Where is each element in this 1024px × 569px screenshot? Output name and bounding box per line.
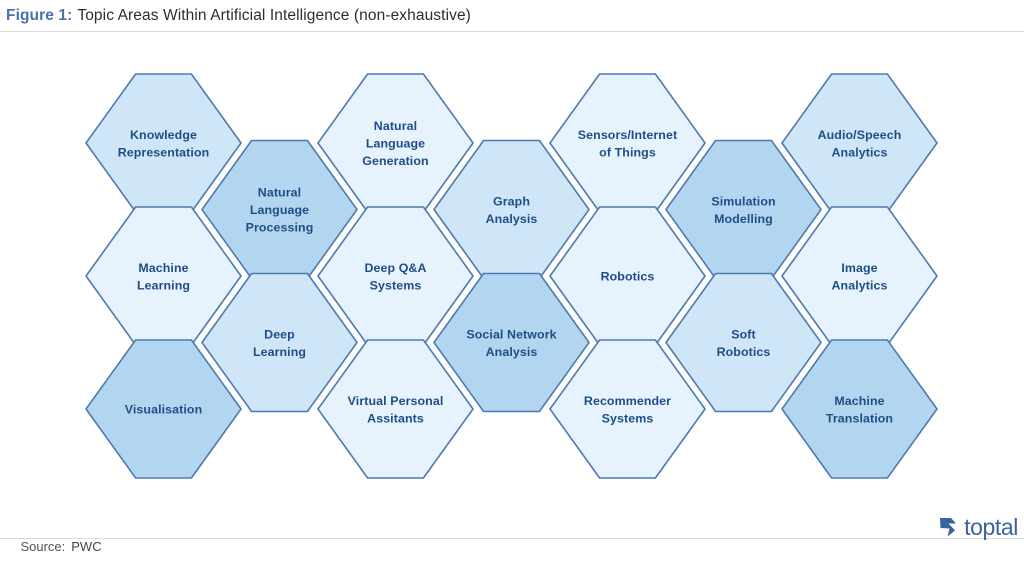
hex-cell-label: Robotics [601, 270, 655, 284]
figure-number-label: Figure 1: [6, 7, 72, 25]
source-value: PWC [71, 539, 101, 554]
footer-divider [0, 538, 1024, 539]
hexagon-diagram: KnowledgeRepresentationMachineLearningVi… [0, 32, 1024, 502]
hex-cell-label: Visualisation [125, 403, 203, 417]
toptal-logo[interactable]: toptal [937, 513, 1018, 541]
source-note: Source:PWC [6, 524, 102, 569]
figure-page: Figure 1: Topic Areas Within Artificial … [0, 0, 1024, 550]
source-label: Source: [20, 539, 65, 554]
hexagon-grid-svg: KnowledgeRepresentationMachineLearningVi… [0, 32, 1024, 502]
toptal-wordmark: toptal [964, 516, 1018, 539]
toptal-chevron-icon [937, 515, 959, 539]
page-title: Topic Areas Within Artificial Intelligen… [77, 7, 471, 25]
figure-title-bar: Figure 1: Topic Areas Within Artificial … [0, 0, 1024, 31]
